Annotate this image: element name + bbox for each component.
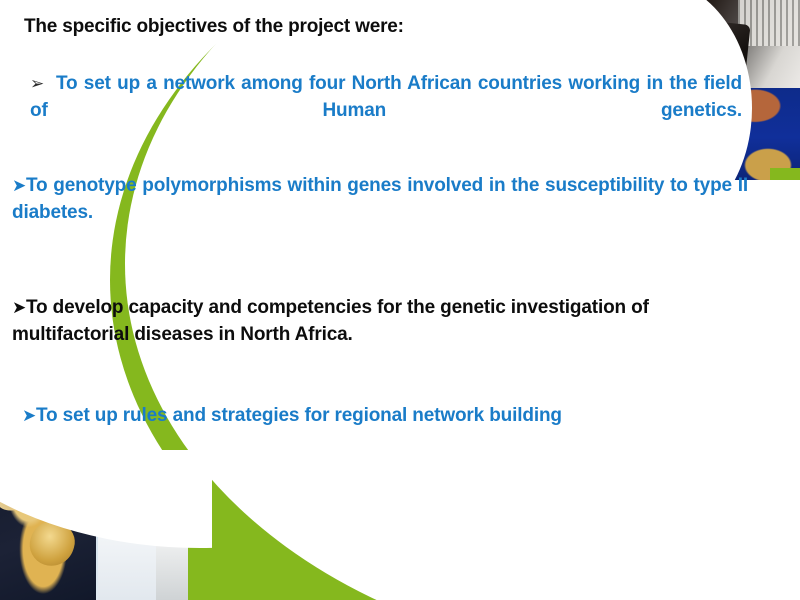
bullet-item-2: ➤ To genotype polymorphisms within genes… (12, 172, 748, 253)
bullet-item-3-text: To develop capacity and competencies for… (12, 294, 712, 348)
arrow-bullet-icon: ➤ (12, 173, 26, 199)
bullet-item-1-text: To set up a network among four North Afr… (30, 70, 742, 151)
bullet-item-2-text: To genotype polymorphisms within genes i… (12, 172, 748, 253)
slide-canvas: The specific objectives of the project w… (0, 0, 800, 600)
arrow-bullet-icon: ➤ (12, 295, 26, 321)
footer-tagline: Recherche et formation (550, 567, 780, 588)
bullet-item-3: ➤ To develop capacity and competencies f… (12, 294, 712, 348)
bottom-left-photo-collage (0, 450, 212, 600)
arrow-bullet-icon: ➢ (30, 71, 44, 97)
arrow-bullet-icon: ➤ (22, 403, 36, 429)
bullet-item-1: ➢ To set up a network among four North A… (30, 70, 742, 151)
slide-heading: The specific objectives of the project w… (24, 16, 704, 38)
top-right-green-corner (770, 168, 800, 180)
bullet-item-4: ➤ To set up rules and strategies for reg… (22, 402, 722, 429)
bullet-item-4-text: To set up rules and strategies for regio… (22, 402, 722, 429)
